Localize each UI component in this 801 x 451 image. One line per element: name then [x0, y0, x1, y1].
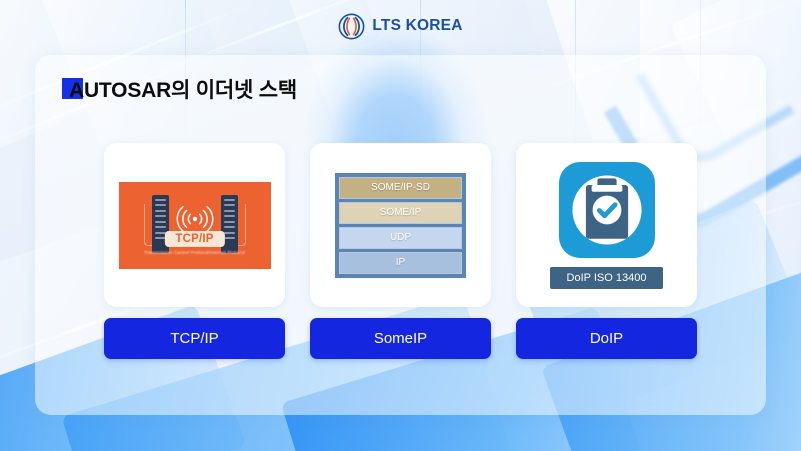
tcpip-illustration: TCP/IP Transmission Control Protocol/Int…	[119, 182, 271, 269]
card-row: TCP/IP Transmission Control Protocol/Int…	[104, 143, 697, 307]
stack-layer: IP	[339, 252, 462, 274]
wireless-signal-icon	[176, 204, 214, 232]
brand-name: LTS KOREA	[372, 17, 462, 35]
slide-canvas: LTS KOREA AUTOSAR의 이더넷 스택	[0, 0, 801, 451]
doip-visual: DoIP ISO 13400	[550, 162, 664, 289]
button-someip[interactable]: SomeIP	[310, 318, 491, 359]
stack-layer: SOME/IP-SD	[339, 177, 462, 199]
tcpip-badge-label: TCP/IP	[164, 231, 224, 247]
button-doip[interactable]: DoIP	[516, 318, 697, 359]
card-doip[interactable]: DoIP ISO 13400	[516, 143, 697, 307]
card-someip[interactable]: SOME/IP-SD SOME/IP UDP IP	[310, 143, 491, 307]
lts-korea-logo-icon	[338, 13, 365, 40]
page-title: AUTOSAR의 이더넷 스택	[62, 74, 297, 104]
brand-logo: LTS KOREA	[338, 13, 462, 40]
stack-layer: SOME/IP	[339, 202, 462, 224]
card-tcpip[interactable]: TCP/IP Transmission Control Protocol/Int…	[104, 143, 285, 307]
tcpip-subtitle: Transmission Control Protocol/Internet P…	[119, 250, 271, 255]
protocol-stack-diagram: SOME/IP-SD SOME/IP UDP IP	[335, 173, 466, 278]
page-title-label: AUTOSAR의 이더넷 스택	[69, 74, 297, 104]
clipboard-check-icon	[559, 162, 655, 258]
stack-layer: UDP	[339, 227, 462, 249]
header-bar: LTS KOREA	[0, 0, 801, 52]
doip-banner-label: DoIP ISO 13400	[550, 267, 664, 289]
button-row: TCP/IP SomeIP DoIP	[104, 318, 697, 359]
button-tcpip[interactable]: TCP/IP	[104, 318, 285, 359]
